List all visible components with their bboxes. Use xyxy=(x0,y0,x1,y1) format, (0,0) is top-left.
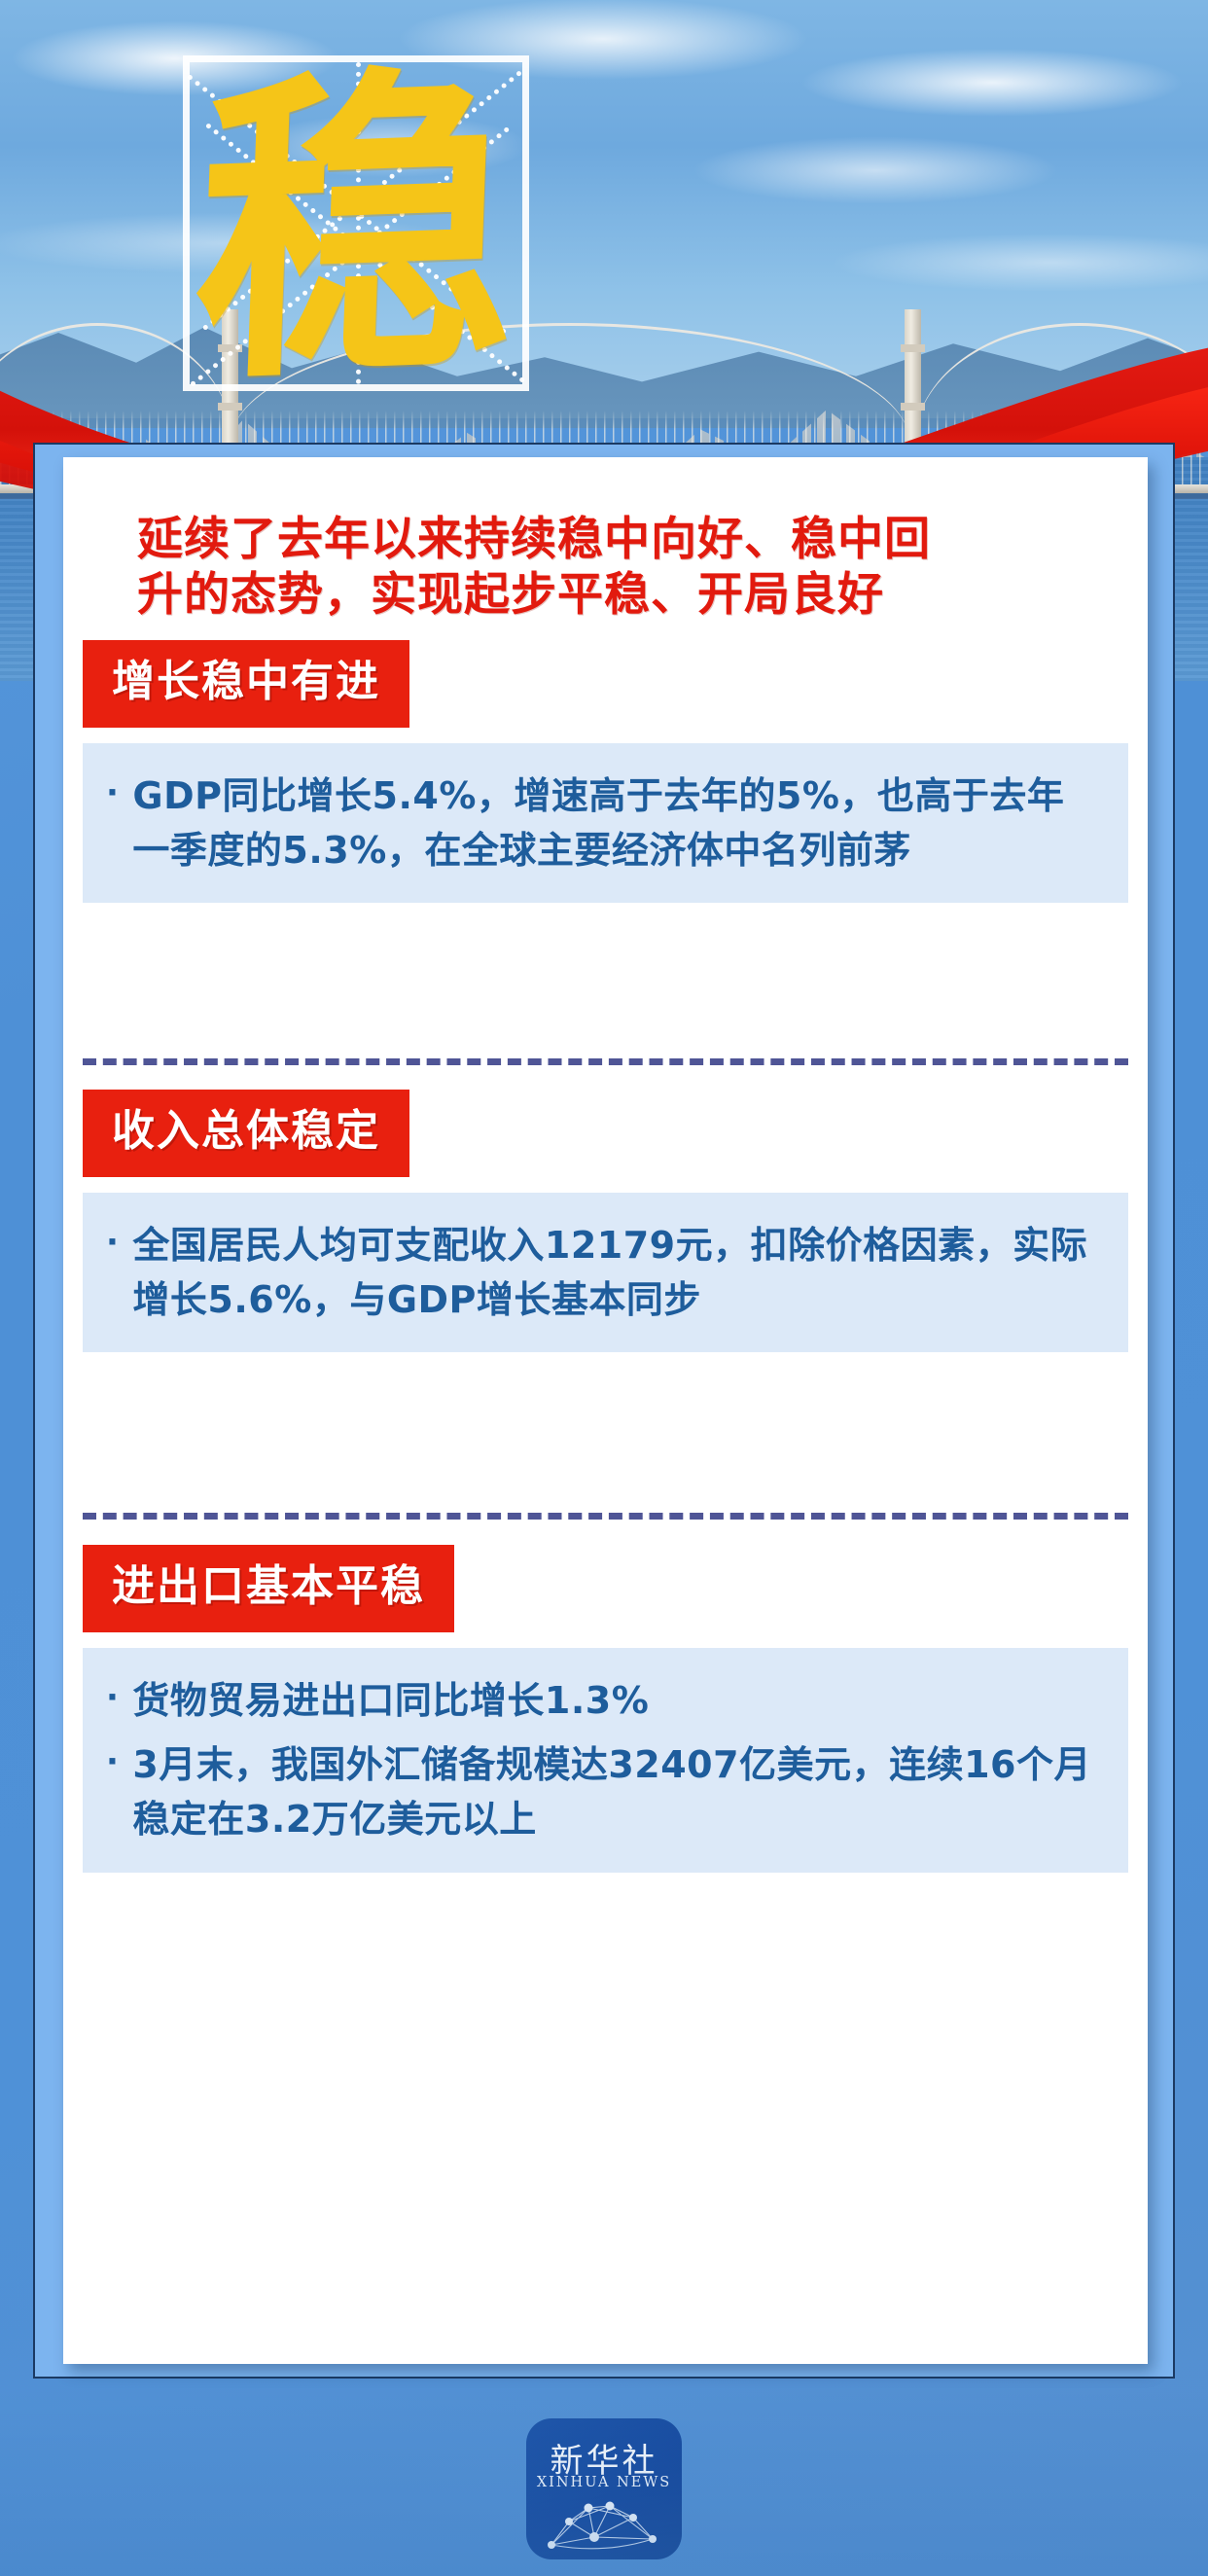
list-item: · 全国居民人均可支配收入12179元，扣除价格因素，实际增长5.6%，与GDP… xyxy=(106,1218,1095,1327)
poster-root: 稳 延续了去年以来持续稳中向好、稳中回 升的态势，实现起步平稳、开局良好 增长稳… xyxy=(0,0,1208,2576)
section-growth: 增长稳中有进 · GDP同比增长5.4%，增速高于去年的5%，也高于去年一季度的… xyxy=(63,640,1148,903)
section-divider xyxy=(83,1513,1128,1520)
page-headline: 延续了去年以来持续稳中向好、稳中回 升的态势，实现起步平稳、开局良好 xyxy=(137,512,1071,624)
section-trade: 进出口基本平稳 · 货物贸易进出口同比增长1.3% · 3月末，我国外汇储备规模… xyxy=(63,1545,1148,1873)
xinhua-news-logo: 新华社 XINHUA NEWS xyxy=(526,2418,682,2559)
headline-line-2: 升的态势，实现起步平稳、开局良好 xyxy=(137,567,1071,623)
bullet-marker-icon: · xyxy=(106,1218,119,1327)
bullet-text: 货物贸易进出口同比增长1.3% xyxy=(132,1673,1095,1728)
section-body-growth: · GDP同比增长5.4%，增速高于去年的5%，也高于去年一季度的5.3%，在全… xyxy=(83,743,1128,903)
bullet-marker-icon: · xyxy=(106,1673,119,1728)
logo-en-name: XINHUA NEWS xyxy=(526,2475,682,2490)
section-body-income: · 全国居民人均可支配收入12179元，扣除价格因素，实际增长5.6%，与GDP… xyxy=(83,1193,1128,1352)
section-tag-growth: 增长稳中有进 xyxy=(83,640,409,728)
list-item: · 3月末，我国外汇储备规模达32407亿美元，连续16个月稳定在3.2万亿美元… xyxy=(106,1737,1095,1846)
list-item: · 货物贸易进出口同比增长1.3% xyxy=(106,1673,1095,1728)
bullet-marker-icon: · xyxy=(106,769,119,877)
section-tag-trade: 进出口基本平稳 xyxy=(83,1545,454,1632)
bullet-text: 全国居民人均可支配收入12179元，扣除价格因素，实际增长5.6%，与GDP增长… xyxy=(132,1218,1095,1327)
content-card: 延续了去年以来持续稳中向好、稳中回 升的态势，实现起步平稳、开局良好 增长稳中有… xyxy=(63,457,1148,2364)
bullet-text: 3月末，我国外汇储备规模达32407亿美元，连续16个月稳定在3.2万亿美元以上 xyxy=(132,1737,1095,1846)
section-income: 收入总体稳定 · 全国居民人均可支配收入12179元，扣除价格因素，实际增长5.… xyxy=(63,1090,1148,1352)
list-item: · GDP同比增长5.4%，增速高于去年的5%，也高于去年一季度的5.3%，在全… xyxy=(106,769,1095,877)
section-body-trade: · 货物贸易进出口同比增长1.3% · 3月末，我国外汇储备规模达32407亿美… xyxy=(83,1648,1128,1873)
bullet-marker-icon: · xyxy=(106,1737,119,1846)
calligraphy-character: 稳 xyxy=(140,56,571,402)
bullet-text: GDP同比增长5.4%，增速高于去年的5%，也高于去年一季度的5.3%，在全球主… xyxy=(132,769,1095,877)
headline-line-1: 延续了去年以来持续稳中向好、稳中回 xyxy=(137,512,1071,567)
section-divider xyxy=(83,1058,1128,1065)
network-globe-icon xyxy=(540,2494,668,2553)
section-tag-income: 收入总体稳定 xyxy=(83,1090,409,1177)
